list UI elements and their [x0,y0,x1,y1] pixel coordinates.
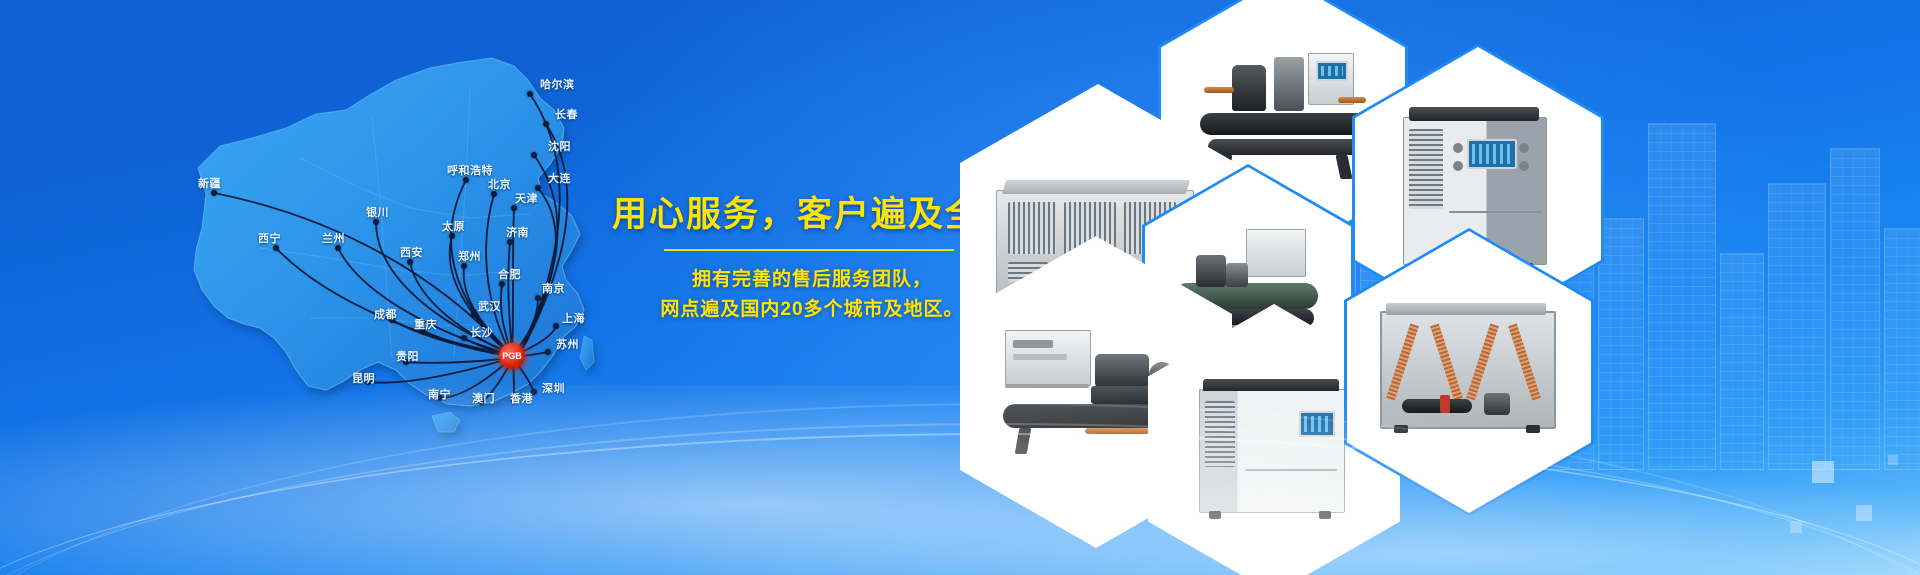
subtitle-line-2: 网点遍及国内20多个城市及地区。 [612,295,1012,326]
city-label: 重庆 [414,316,437,332]
city-label: 大连 [548,170,571,186]
city-label: 南京 [542,280,565,296]
city-label: 香港 [510,390,533,406]
city-label: 银川 [366,204,389,220]
city-dot[interactable] [545,349,551,355]
city-label: 澳门 [472,390,495,406]
city-label: 西宁 [258,230,281,246]
city-label: 沈阳 [548,138,571,154]
hub-marker-guangzhou[interactable]: PGB [499,343,525,369]
headline-divider [664,249,954,251]
city-label: 合肥 [498,266,521,282]
city-dot[interactable] [553,323,559,329]
city-label: 南宁 [428,386,451,402]
city-label: 深圳 [542,380,565,396]
city-label: 长沙 [470,324,493,340]
city-dot[interactable] [531,152,537,158]
city-label: 武汉 [478,298,501,314]
copy-block: 用心服务，客户遍及全国 拥有完善的售后服务团队， 网点遍及国内20多个城市及地区… [612,196,1012,326]
city-dot[interactable] [461,335,467,341]
city-label: 天津 [515,190,538,206]
city-label: 呼和浩特 [447,162,493,178]
city-dot[interactable] [531,389,537,395]
product-hexagon-gallery [960,0,1920,470]
city-label: 上海 [562,310,585,326]
decor-square-3 [1790,521,1802,533]
city-label: 成都 [374,306,397,322]
city-label: 哈尔滨 [540,76,575,92]
subtitle-block: 拥有完善的售后服务团队， 网点遍及国内20多个城市及地区。 [612,265,1012,327]
decor-square-2 [1856,505,1872,521]
hub-label: PGB [502,351,522,361]
city-label: 济南 [506,224,529,240]
city-dot[interactable] [535,295,541,301]
city-label: 北京 [488,176,511,192]
headline: 用心服务，客户遍及全国 [612,196,1012,235]
city-label: 兰州 [322,230,345,246]
city-dot[interactable] [527,91,533,97]
city-label: 西安 [400,244,423,260]
subtitle-line-1: 拥有完善的售后服务团队， [612,265,1012,296]
city-label: 郑州 [458,248,481,264]
city-label: 新疆 [198,175,221,191]
city-label: 太原 [442,218,465,234]
city-dot[interactable] [543,121,549,127]
city-label: 长春 [555,106,578,122]
city-label: 贵阳 [396,348,419,364]
china-service-map: 哈尔滨长春沈阳大连呼和浩特北京天津新疆银川太原兰州济南西宁西安郑州合肥南京上海苏… [110,18,670,448]
city-label: 苏州 [556,336,579,352]
promo-banner: 哈尔滨长春沈阳大连呼和浩特北京天津新疆银川太原兰州济南西宁西安郑州合肥南京上海苏… [0,0,1920,575]
city-label: 昆明 [352,370,375,386]
city-dot[interactable] [471,311,477,317]
